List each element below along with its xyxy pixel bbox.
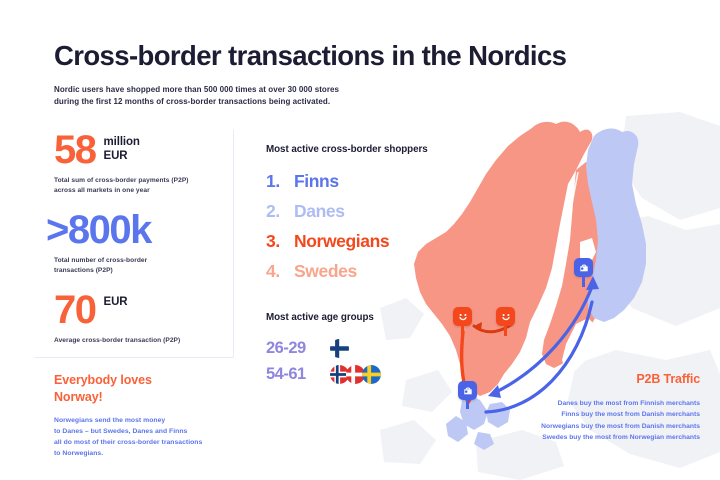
merchant-pin-box: [574, 258, 593, 277]
pin-stem: [582, 277, 585, 287]
subtitle-line-1: Nordic users have shopped more than 500 …: [54, 84, 654, 96]
love-body-line-3: all do most of their cross-border transa…: [54, 437, 244, 448]
age-flags: [330, 365, 381, 384]
list-item: 26-29: [266, 339, 481, 358]
rank-number: 3.: [266, 231, 294, 252]
stat-transaction-count: >800k Total number of cross-border trans…: [46, 212, 234, 276]
key-stats: 58 million EUR Total sum of cross-border…: [54, 132, 234, 346]
age-range: 26-29: [266, 339, 330, 358]
shopping-bag-icon: [578, 262, 590, 274]
infographic-page: Cross-border transactions in the Nordics…: [0, 0, 720, 480]
page-subtitle: Nordic users have shopped more than 500 …: [54, 84, 654, 109]
stat-caption-line-1: Total sum of cross-border payments (P2P): [54, 176, 234, 186]
list-item: 1. Finns: [266, 171, 481, 192]
p2b-title: P2B Traffic: [480, 372, 700, 386]
age-groups-heading: Most active age groups: [266, 312, 481, 323]
stat-unit-line-1: EUR: [104, 295, 128, 309]
rank-number: 4.: [266, 261, 294, 282]
stat-unit: million EUR: [104, 135, 140, 164]
finland-merchant-pin[interactable]: [574, 258, 593, 287]
love-body-line-2: to Danes – but Swedes, Danes and Finns: [54, 426, 244, 437]
p2b-line: Swedes buy the most from Norwegian merch…: [480, 432, 700, 443]
stat-caption-line-2: across all markets in one year: [54, 186, 234, 196]
age-flags: [330, 339, 349, 358]
love-title-line-1: Everybody loves: [54, 372, 244, 389]
rank-number: 1.: [266, 171, 294, 192]
stat-value: >800k: [46, 212, 151, 249]
rank-label: Finns: [294, 171, 339, 192]
p2b-line: Finns buy the most from Danish merchants: [480, 409, 700, 420]
stat-value: 58: [54, 132, 96, 169]
rank-label: Norwegians: [294, 231, 389, 252]
everybody-loves-norway: Everybody loves Norway! Norwegians send …: [54, 372, 244, 459]
rank-number: 2.: [266, 201, 294, 222]
list-item: 4. Swedes: [266, 261, 481, 282]
smiley-icon: [500, 311, 512, 323]
stat-caption: Total sum of cross-border payments (P2P)…: [54, 176, 234, 196]
stat-caption: Average cross-border transaction (P2P): [54, 336, 234, 346]
age-range: 54-61: [266, 365, 330, 384]
p2b-line: Norwegians buy the most from Danish merc…: [480, 421, 700, 432]
love-title: Everybody loves Norway!: [54, 372, 244, 406]
section-divider: [34, 357, 234, 358]
most-active-shoppers: Most active cross-border shoppers 1. Fin…: [266, 144, 481, 291]
page-title: Cross-border transactions in the Nordics: [54, 40, 654, 72]
shoppers-heading: Most active cross-border shoppers: [266, 144, 481, 155]
love-body-line-4: to Norwegians.: [54, 448, 244, 459]
list-item: 54-61: [266, 365, 481, 384]
smiley-pin-box: [496, 307, 515, 326]
list-item: 3. Norwegians: [266, 231, 481, 252]
p2b-traffic: P2B Traffic Danes buy the most from Finn…: [480, 372, 700, 443]
finland-flag-icon: [330, 339, 349, 358]
header: Cross-border transactions in the Nordics…: [54, 40, 654, 108]
subtitle-line-2: during the first 12 months of cross-bord…: [54, 96, 654, 108]
stat-caption-line-1: Total number of cross-border: [54, 256, 234, 266]
stat-unit-line-1: million: [104, 135, 140, 149]
love-title-line-2: Norway!: [54, 389, 244, 406]
age-groups-list: 26-29 54-61: [266, 339, 481, 384]
shoppers-list: 1. Finns 2. Danes 3. Norwegians 4. Swede…: [266, 171, 481, 282]
stat-caption-line-1: Average cross-border transaction (P2P): [54, 336, 234, 346]
stat-unit: EUR: [104, 295, 128, 309]
stat-average-transaction: 70 EUR Average cross-border transaction …: [54, 292, 234, 346]
p2b-lines: Danes buy the most from Finnish merchant…: [480, 398, 700, 443]
list-item: 2. Danes: [266, 201, 481, 222]
rank-label: Swedes: [294, 261, 357, 282]
pin-stem: [504, 326, 507, 336]
stat-value: 70: [54, 292, 96, 329]
love-body: Norwegians send the most money to Danes …: [54, 415, 244, 459]
p2b-line: Danes buy the most from Finnish merchant…: [480, 398, 700, 409]
sweden-flag-icon: [362, 365, 381, 384]
love-body-line-1: Norwegians send the most money: [54, 415, 244, 426]
stat-caption: Total number of cross-border transaction…: [54, 256, 234, 276]
stat-unit-line-2: EUR: [104, 149, 140, 163]
sweden-shopper-pin[interactable]: [496, 307, 515, 336]
stat-caption-line-2: transactions (P2P): [54, 266, 234, 276]
stat-total-sum: 58 million EUR Total sum of cross-border…: [54, 132, 234, 196]
rank-label: Danes: [294, 201, 345, 222]
most-active-age-groups: Most active age groups 26-29 54-61: [266, 312, 481, 391]
pin-stem: [466, 400, 469, 409]
